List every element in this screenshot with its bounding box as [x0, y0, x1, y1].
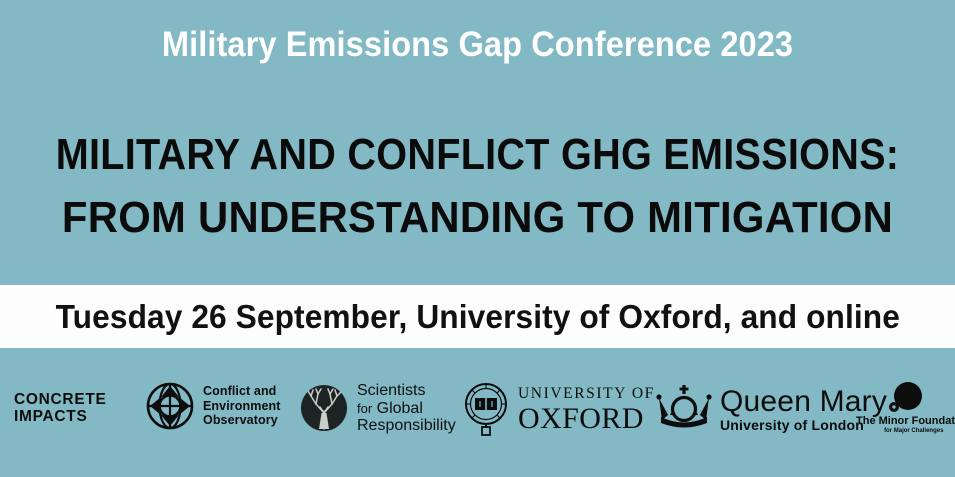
date-band: Tuesday 26 September, University of Oxfo…	[0, 285, 955, 348]
heading-line-2: From understanding to mitigation	[24, 186, 931, 249]
oxford-crest-icon	[463, 382, 509, 436]
globe-compass-icon	[146, 382, 194, 430]
ceobs-line-1: Conflict and	[203, 384, 281, 399]
sgr-line-2: for	[357, 401, 372, 416]
logo-queen-mary-university-of-london[interactable]: Queen Mary University of London	[656, 384, 887, 434]
page-title: Military and Conflict GHG Emissions: Fro…	[0, 123, 955, 249]
sponsor-logo-strip: CONCRETE IMPACTS Confli	[0, 366, 955, 456]
minor-foundation-line-2: for Major Challenges	[856, 427, 955, 435]
oxford-line-1: UNIVERSITY OF	[518, 385, 655, 403]
black-circle-icon	[856, 382, 955, 415]
logo-concrete-impacts[interactable]: CONCRETE IMPACTS	[14, 392, 107, 425]
tree-circle-icon	[300, 384, 348, 432]
logo-scientists-for-global-responsibility[interactable]: Scientists for Global Responsibility	[300, 382, 456, 435]
ceobs-line-2: Environment	[203, 399, 281, 414]
date-location-text: Tuesday 26 September, University of Oxfo…	[55, 298, 899, 336]
sgr-line-3: Global	[377, 400, 423, 417]
sgr-line-1: Scientists	[357, 382, 456, 400]
minor-foundation-line-1: The Minor Foundation	[856, 415, 955, 427]
logo-university-of-oxford[interactable]: UNIVERSITY OF OXFORD	[463, 382, 655, 436]
concrete-impacts-line-1: CONCRETE	[14, 392, 107, 409]
conference-banner: Military Emissions Gap Conference 2023 M…	[0, 0, 955, 477]
ceobs-line-3: Observatory	[203, 413, 281, 428]
concrete-impacts-line-2: IMPACTS	[14, 409, 107, 426]
conference-title: Military Emissions Gap Conference 2023	[33, 24, 921, 66]
oxford-line-2: OXFORD	[518, 403, 655, 434]
crown-icon	[656, 384, 712, 434]
sgr-line-4: Responsibility	[357, 417, 456, 435]
logo-the-minor-foundation[interactable]: The Minor Foundation for Major Challenge…	[856, 382, 952, 435]
heading-line-1: Military and Conflict GHG Emissions:	[48, 123, 908, 186]
logo-conflict-environment-observatory[interactable]: Conflict and Environment Observatory	[146, 382, 281, 430]
